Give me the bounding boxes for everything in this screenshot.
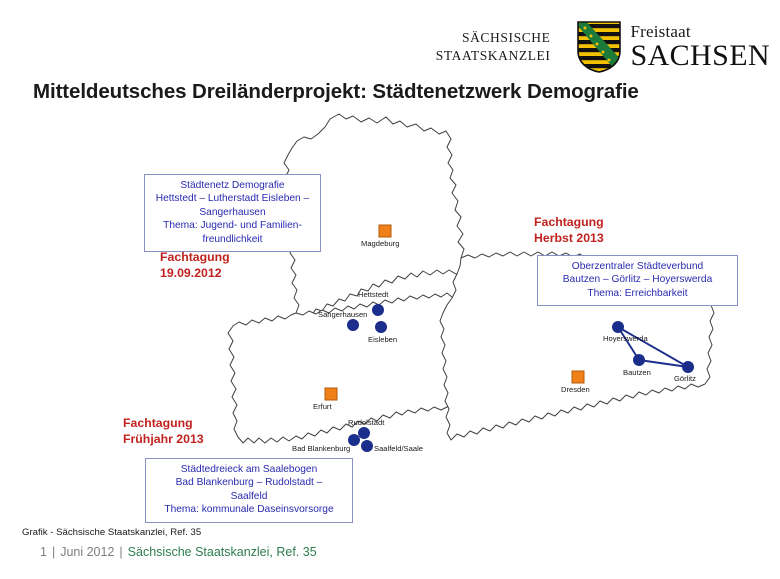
map-label-saalfeld: Saalfeld/Saale: [374, 444, 423, 453]
map-label-bad-blankenburg: Bad Blankenburg: [292, 444, 350, 453]
info-box-line1: Städtedreieck am Saalebogen: [152, 463, 346, 476]
red-heading-fachtagung-2012: Fachtagung 19.09.2012: [160, 249, 230, 281]
map-label-goerlitz: Görlitz: [674, 374, 696, 383]
city-marker-hettstedt: [372, 304, 384, 316]
info-box-line2: Bautzen – Görlitz – Hoyerswerda: [544, 273, 731, 286]
red-heading-line2: Herbst 2013: [534, 230, 604, 246]
city-marker-bautzen: [633, 354, 645, 366]
info-box-staedtedreieck-saalebogen: Städtedreieck am Saalebogen Bad Blankenb…: [145, 458, 353, 523]
map-label-erfurt: Erfurt: [313, 402, 332, 411]
city-marker-sangerhausen: [347, 319, 359, 331]
info-box-line2: Hettstedt – Lutherstadt Eisleben –: [151, 192, 314, 205]
capital-marker-dresden: [572, 371, 584, 383]
info-box-line4: Thema: Jugend- und Familien-: [151, 219, 314, 232]
map-label-rudolstadt: Rudolstadt: [348, 418, 384, 427]
info-box-staedtenetz-demografie: Städtenetz Demografie Hettstedt – Luther…: [144, 174, 321, 252]
red-heading-fachtagung-herbst-2013: Fachtagung Herbst 2013: [534, 214, 604, 246]
info-box-line2: Bad Blankenburg – Rudolstadt –: [152, 476, 346, 489]
red-heading-line2: Frühjahr 2013: [123, 431, 204, 447]
map-label-eisleben: Eisleben: [368, 335, 397, 344]
footer-separator-1: |: [52, 545, 55, 559]
city-marker-hoyerswerda: [612, 321, 624, 333]
map-label-sangerhausen: Sangerhausen: [318, 310, 367, 319]
footer-separator-2: |: [119, 545, 122, 559]
footer-bar: 1|Juni 2012|Sächsische Staatskanzlei, Re…: [40, 545, 317, 559]
map-label-bautzen: Bautzen: [623, 368, 651, 377]
info-box-line1: Städtenetz Demografie: [151, 179, 314, 192]
footer-organisation: Sächsische Staatskanzlei, Ref. 35: [128, 545, 317, 559]
info-box-oberzentraler-staedteverbund: Oberzentraler Städteverbund Bautzen – Gö…: [537, 255, 738, 306]
red-heading-fachtagung-fruehjahr-2013: Fachtagung Frühjahr 2013: [123, 415, 204, 447]
info-box-line4: Thema: kommunale Daseinsvorsorge: [152, 503, 346, 516]
capital-marker-erfurt: [325, 388, 337, 400]
footer-page-number: 1: [40, 545, 47, 559]
info-box-line3: Sangerhausen: [151, 206, 314, 219]
capital-marker-magdeburg: [379, 225, 391, 237]
red-heading-line2: 19.09.2012: [160, 265, 230, 281]
city-marker-rudolstadt: [358, 427, 370, 439]
info-box-line3: Saalfeld: [152, 490, 346, 503]
city-marker-saalfeld: [361, 440, 373, 452]
footer-date: Juni 2012: [60, 545, 114, 559]
red-heading-line1: Fachtagung: [534, 214, 604, 230]
footer-graphic-credit: Grafik - Sächsische Staatskanzlei, Ref. …: [22, 527, 201, 538]
city-marker-eisleben: [375, 321, 387, 333]
map-label-dresden: Dresden: [561, 385, 590, 394]
info-box-line5: freundlichkeit: [151, 233, 314, 246]
map-label-hoyerswerda: Hoyerswerda: [603, 334, 648, 343]
map-label-hettstedt: Hettstedt: [358, 290, 388, 299]
info-box-line1: Oberzentraler Städteverbund: [544, 260, 731, 273]
city-marker-goerlitz: [682, 361, 694, 373]
red-heading-line1: Fachtagung: [123, 415, 204, 431]
info-box-line3: Thema: Erreichbarkeit: [544, 287, 731, 300]
slide-canvas: SÄCHSISCHE STAATSKANZLEI: [0, 0, 780, 579]
map-label-magdeburg: Magdeburg: [361, 239, 399, 248]
